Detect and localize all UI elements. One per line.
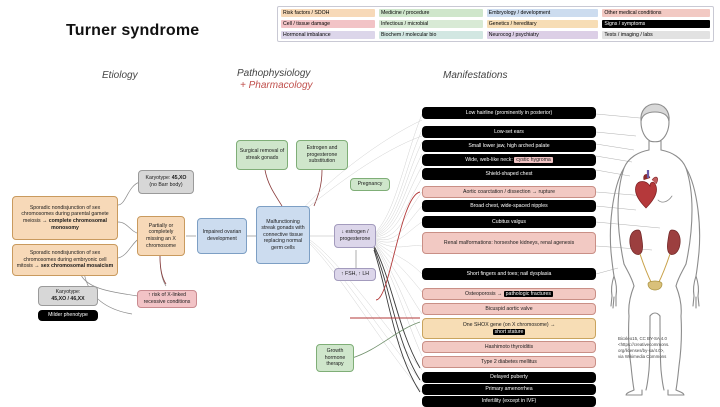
legend-column-3: Embryology / development Genetics / here… (487, 9, 599, 39)
page-title: Turner syndrome (66, 22, 199, 40)
legend-item-genetics: Genetics / hereditary (487, 20, 599, 28)
node-x-linked-risk: ↑ risk of X-linked recessive conditions (137, 290, 197, 308)
node-milder-phenotype: Milder phenotype (38, 310, 98, 321)
legend-item-tests: Tests / imaging / labs (602, 31, 710, 39)
kidney-organs (630, 230, 680, 290)
node-karyotype-45xo: Karyotype: 45,XO (no Barr body) (138, 170, 194, 194)
manifestation-primary-amenorrhea: Primary amenorrhea (422, 384, 596, 395)
legend-item-cell-damage: Cell / tissue damage (281, 20, 375, 28)
manifestation-small-jaw: Small lower jaw, high arched palate (422, 140, 596, 152)
legend-item-biochem: Biochem / molecular bio (379, 31, 483, 39)
legend: Risk factors / SDOH Cell / tissue damage… (277, 6, 714, 42)
attribution-text: Bicxleo15, CC BY-SA 4.0 <https://creativ… (618, 336, 714, 360)
legend-item-other-conditions: Other medical conditions (602, 9, 710, 17)
column-header-pharmacology: + Pharmacology (240, 80, 313, 91)
legend-item-infectious: Infectious / microbial (379, 20, 483, 28)
heart-organ (635, 170, 657, 208)
node-karyotype-mosaic: Karyotype: 45,XO / 46,XX (38, 286, 98, 306)
manifestation-shox-gene: One SHOX gene (on X chromosome) → short … (422, 318, 596, 339)
node-nondisjunction-parental: Sporadic nondisjunction of sex chromosom… (12, 196, 118, 240)
manifestation-hashimoto: Hashimoto thyroiditis (422, 341, 596, 353)
manifestation-renal-malformations: Renal malformations: horseshoe kidneys, … (422, 232, 596, 254)
node-estrogen-substitution: Estrogen and progesterone substitution (296, 140, 348, 170)
legend-item-embryology: Embryology / development (487, 9, 599, 17)
node-pregnancy: Pregnancy (350, 178, 390, 191)
legend-item-risk-factors: Risk factors / SDOH (281, 9, 375, 17)
manifestation-type2-diabetes: Type 2 diabetes mellitus (422, 356, 596, 368)
manifestation-infertility: Infertility (except in IVF) (422, 396, 596, 407)
manifestation-cubitus-valgus: Cubitus valgus (422, 216, 596, 228)
manifestation-low-set-ears: Low-set ears (422, 126, 596, 138)
legend-item-signs-symptoms: Signs / symptoms (602, 20, 710, 28)
node-streak-gonads: Malfunctioning streak gonads with connec… (256, 206, 310, 264)
node-fsh-lh: ↑ FSH, ↑ LH (334, 268, 376, 281)
node-impaired-ovarian-development: Impaired ovarian development (197, 218, 247, 254)
column-header-manifestations: Manifestations (443, 70, 507, 81)
manifestation-short-fingers: Short fingers and toes; nail dysplasia (422, 268, 596, 280)
legend-item-hormonal: Hormonal imbalance (281, 31, 375, 39)
node-partially-missing-x: Partially or completely missing an X chr… (137, 216, 185, 256)
node-surgical-removal: Surgical removal of streak gonads (236, 140, 288, 170)
manifestation-broad-chest: Broad chest, wide-spaced nipples (422, 200, 596, 212)
manifestation-shield-chest: Shield-shaped chest (422, 168, 596, 180)
diagram-canvas: Turner syndrome Etiology Pathophysiology… (0, 0, 720, 404)
manifestation-aortic-coarctation: Aortic coarctation / dissection → ruptur… (422, 186, 596, 198)
legend-column-1: Risk factors / SDOH Cell / tissue damage… (281, 9, 375, 39)
column-header-pathophysiology: Pathophysiology (237, 68, 310, 79)
attribution-line-4: via Wikimedia Commons (618, 354, 714, 360)
manifestation-bicuspid-valve: Bicuspid aortic valve (422, 303, 596, 315)
node-growth-hormone-therapy: Growth hormone therapy (316, 344, 354, 372)
manifestation-osteoporosis: Osteoporosis → pathologic fractures (422, 288, 596, 300)
column-header-etiology: Etiology (102, 70, 138, 81)
manifestation-webbed-neck: Wide, web-like neck: cystic hygroma (422, 154, 596, 166)
legend-item-medicine: Medicine / procedure (379, 9, 483, 17)
node-low-estrogen: ↓ estrogen / progesterone (334, 224, 376, 248)
legend-item-neurocog: Neurocog / psychiatry (487, 31, 599, 39)
manifestation-delayed-puberty: Delayed puberty (422, 372, 596, 383)
node-nondisjunction-embryonic: Sporadic nondisjunction of sex chromosom… (12, 244, 118, 276)
manifestation-low-hairline: Low hairline (prominently in posterior) (422, 107, 596, 119)
legend-column-2: Medicine / procedure Infectious / microb… (379, 9, 483, 39)
legend-column-4: Other medical conditions Signs / symptom… (602, 9, 710, 39)
